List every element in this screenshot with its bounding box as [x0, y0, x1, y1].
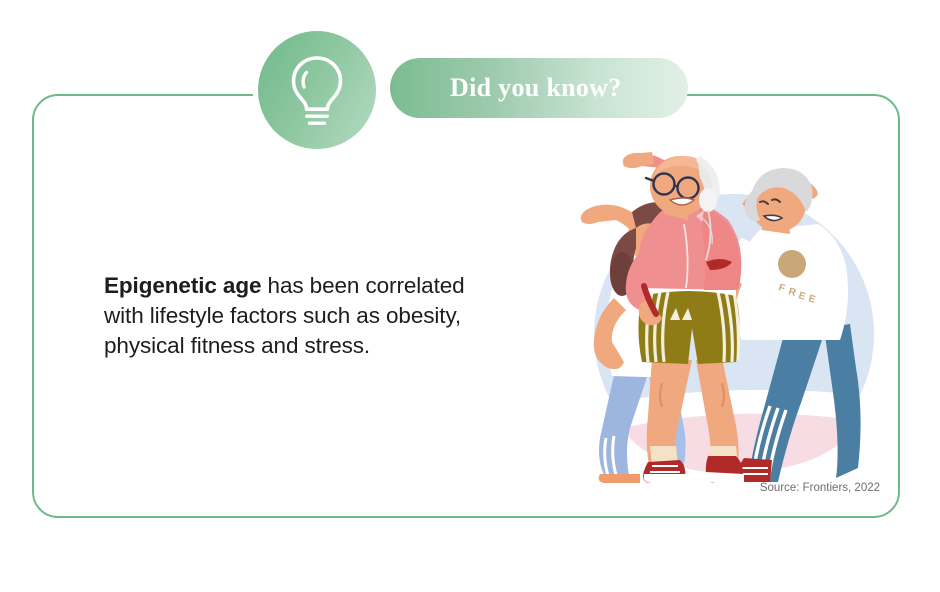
did-you-know-badge: Did you know? — [258, 31, 688, 149]
fact-paragraph: Epigenetic age has been correlated with … — [104, 271, 504, 361]
badge-icon-circle — [258, 31, 376, 149]
source-note: Source: Frontiers, 2022 — [620, 482, 880, 494]
illustration-three-people-stretching: F R E E — [556, 138, 906, 483]
badge-pill: Did you know? — [390, 58, 688, 118]
lightbulb-icon — [288, 55, 346, 127]
badge-title: Did you know? — [450, 73, 622, 103]
fact-lead: Epigenetic age — [104, 273, 261, 298]
card-border-stub-left — [232, 94, 252, 96]
